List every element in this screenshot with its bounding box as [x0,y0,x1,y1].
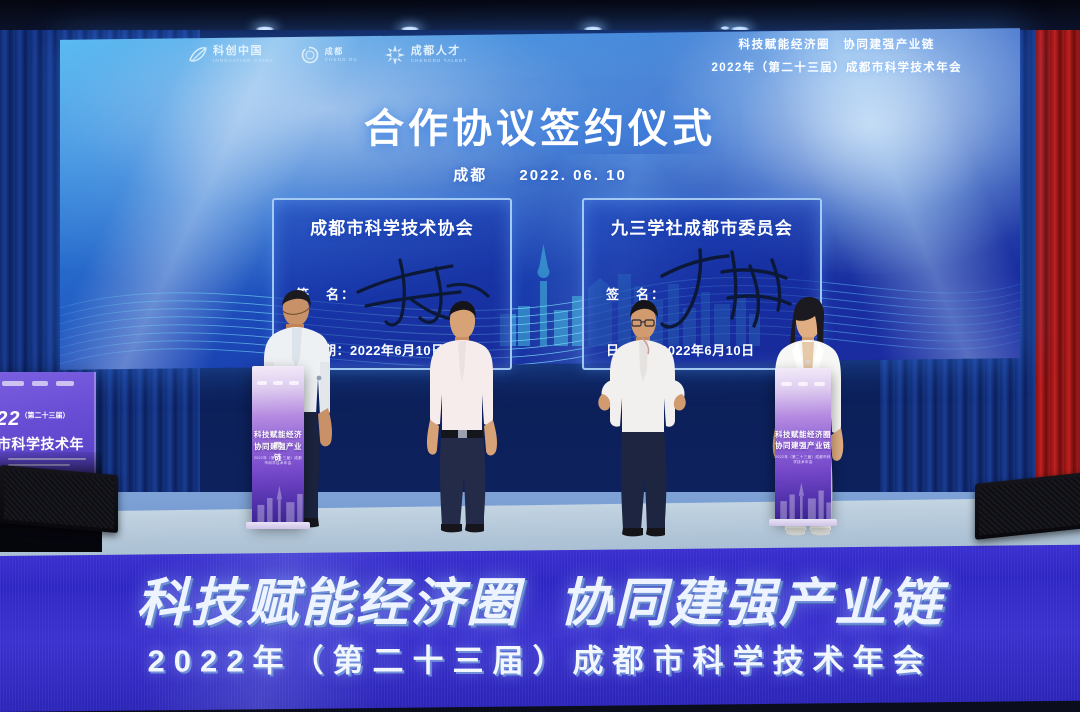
banner-main-slogan: 科技赋能经济圈协同建强产业链 [0,560,1080,635]
podium-banner-2: 科技赋能经济圈 协同建强产业链 2022年（第二十三届）成都市科学技术年会 [775,368,831,520]
card-organization-name: 九三学社成都市委员会 [584,214,820,239]
rollup-logo-chip [32,381,48,386]
logo-label-en: CHENGDU TALENT [411,59,468,63]
monitor-speaker-left [0,465,118,533]
screen-title-block: 合作协议签约仪式 成都 2022. 06. 10 [0,96,1080,185]
podium-slogan-line2: 协同建强产业链 [775,440,831,451]
header-conference-name: 2022年（第二十三届）成都市科学技术年会 [712,59,962,75]
logo-innovation-china: 科创中国 INNOVATION CHINA [188,46,274,64]
card-organization-name: 成都市科学技术协会 [274,214,510,239]
podium-base-1 [246,522,310,529]
header-slogan: 科技赋能经济圈 协同建强产业链 [712,36,962,52]
sponsor-logo-row: 科创中国 INNOVATION CHINA 成都 CHENG DU [188,44,467,66]
mesh-wave-graphic [60,220,1020,370]
logo-label-en: INNOVATION CHINA [213,59,274,63]
subtitle-city: 成都 [453,167,487,184]
bottom-led-banner: 科技赋能经济圈协同建强产业链 2022年（第二十三届）成都市科学技术年会 [0,545,1080,712]
screen-header-right: 科技赋能经济圈 协同建强产业链 2022年（第二十三届）成都市科学技术年会 [712,36,962,75]
logo-chengdu-talent: 成都人才 CHENGDU TALENT [384,44,468,66]
logo-label-cn: 成都 [325,48,358,56]
podium-logo-row [781,382,826,387]
person-3 [596,294,694,538]
podium-logo-row [257,380,299,385]
podium-skyline-icon [252,483,304,524]
subtitle-date: 2022. 06. 10 [519,167,626,184]
banner-slogan-right: 协同建强产业链 [559,574,944,632]
podium-base-2 [769,519,837,526]
person-2 [414,294,510,534]
conference-stage-photo: 科创中国 INNOVATION CHINA 成都 CHENG DU [0,0,1080,712]
logo-label-en: CHENG DU [325,58,358,62]
podium-conference-name: 2022年（第二十三届）成都市科学技术年会 [775,455,831,465]
banner-slogan-left: 科技赋能经济圈 [136,574,521,632]
rollup-edition: （第二十三届） [21,412,70,419]
podium-skyline-icon [775,480,831,520]
page-title: 合作协议签约仪式 [0,96,1080,154]
rollup-logo-row [2,378,88,388]
title-subtitle: 成都 2022. 06. 10 [0,164,1080,185]
podium-slogan-line1: 科技赋能经济圈 [775,429,831,440]
podium-banner-1: 科技赋能经济圈 协同建强产业链 2022年（第二十三届）成都市科学技术年会 [252,366,304,524]
rollup-year: 2022（第二十三届） [0,408,70,431]
leaf-logo-icon [188,46,208,64]
logo-label-cn: 科创中国 [213,46,274,57]
ring-logo-icon [300,45,320,65]
rollup-logo-chip [2,381,24,386]
banner-conference-name: 2022年（第二十三届）成都市科学技术年会 [0,635,1080,680]
pinwheel-logo-icon [384,44,406,66]
logo-chengdu: 成都 CHENG DU [300,45,358,65]
led-backdrop-screen [60,28,1020,370]
monitor-speaker-right [975,472,1080,540]
rollup-logo-chip [56,381,74,386]
logo-label-cn: 成都人才 [411,46,468,57]
podium-conference-name: 2022年（第二十三届）成都市科学技术年会 [252,456,304,466]
